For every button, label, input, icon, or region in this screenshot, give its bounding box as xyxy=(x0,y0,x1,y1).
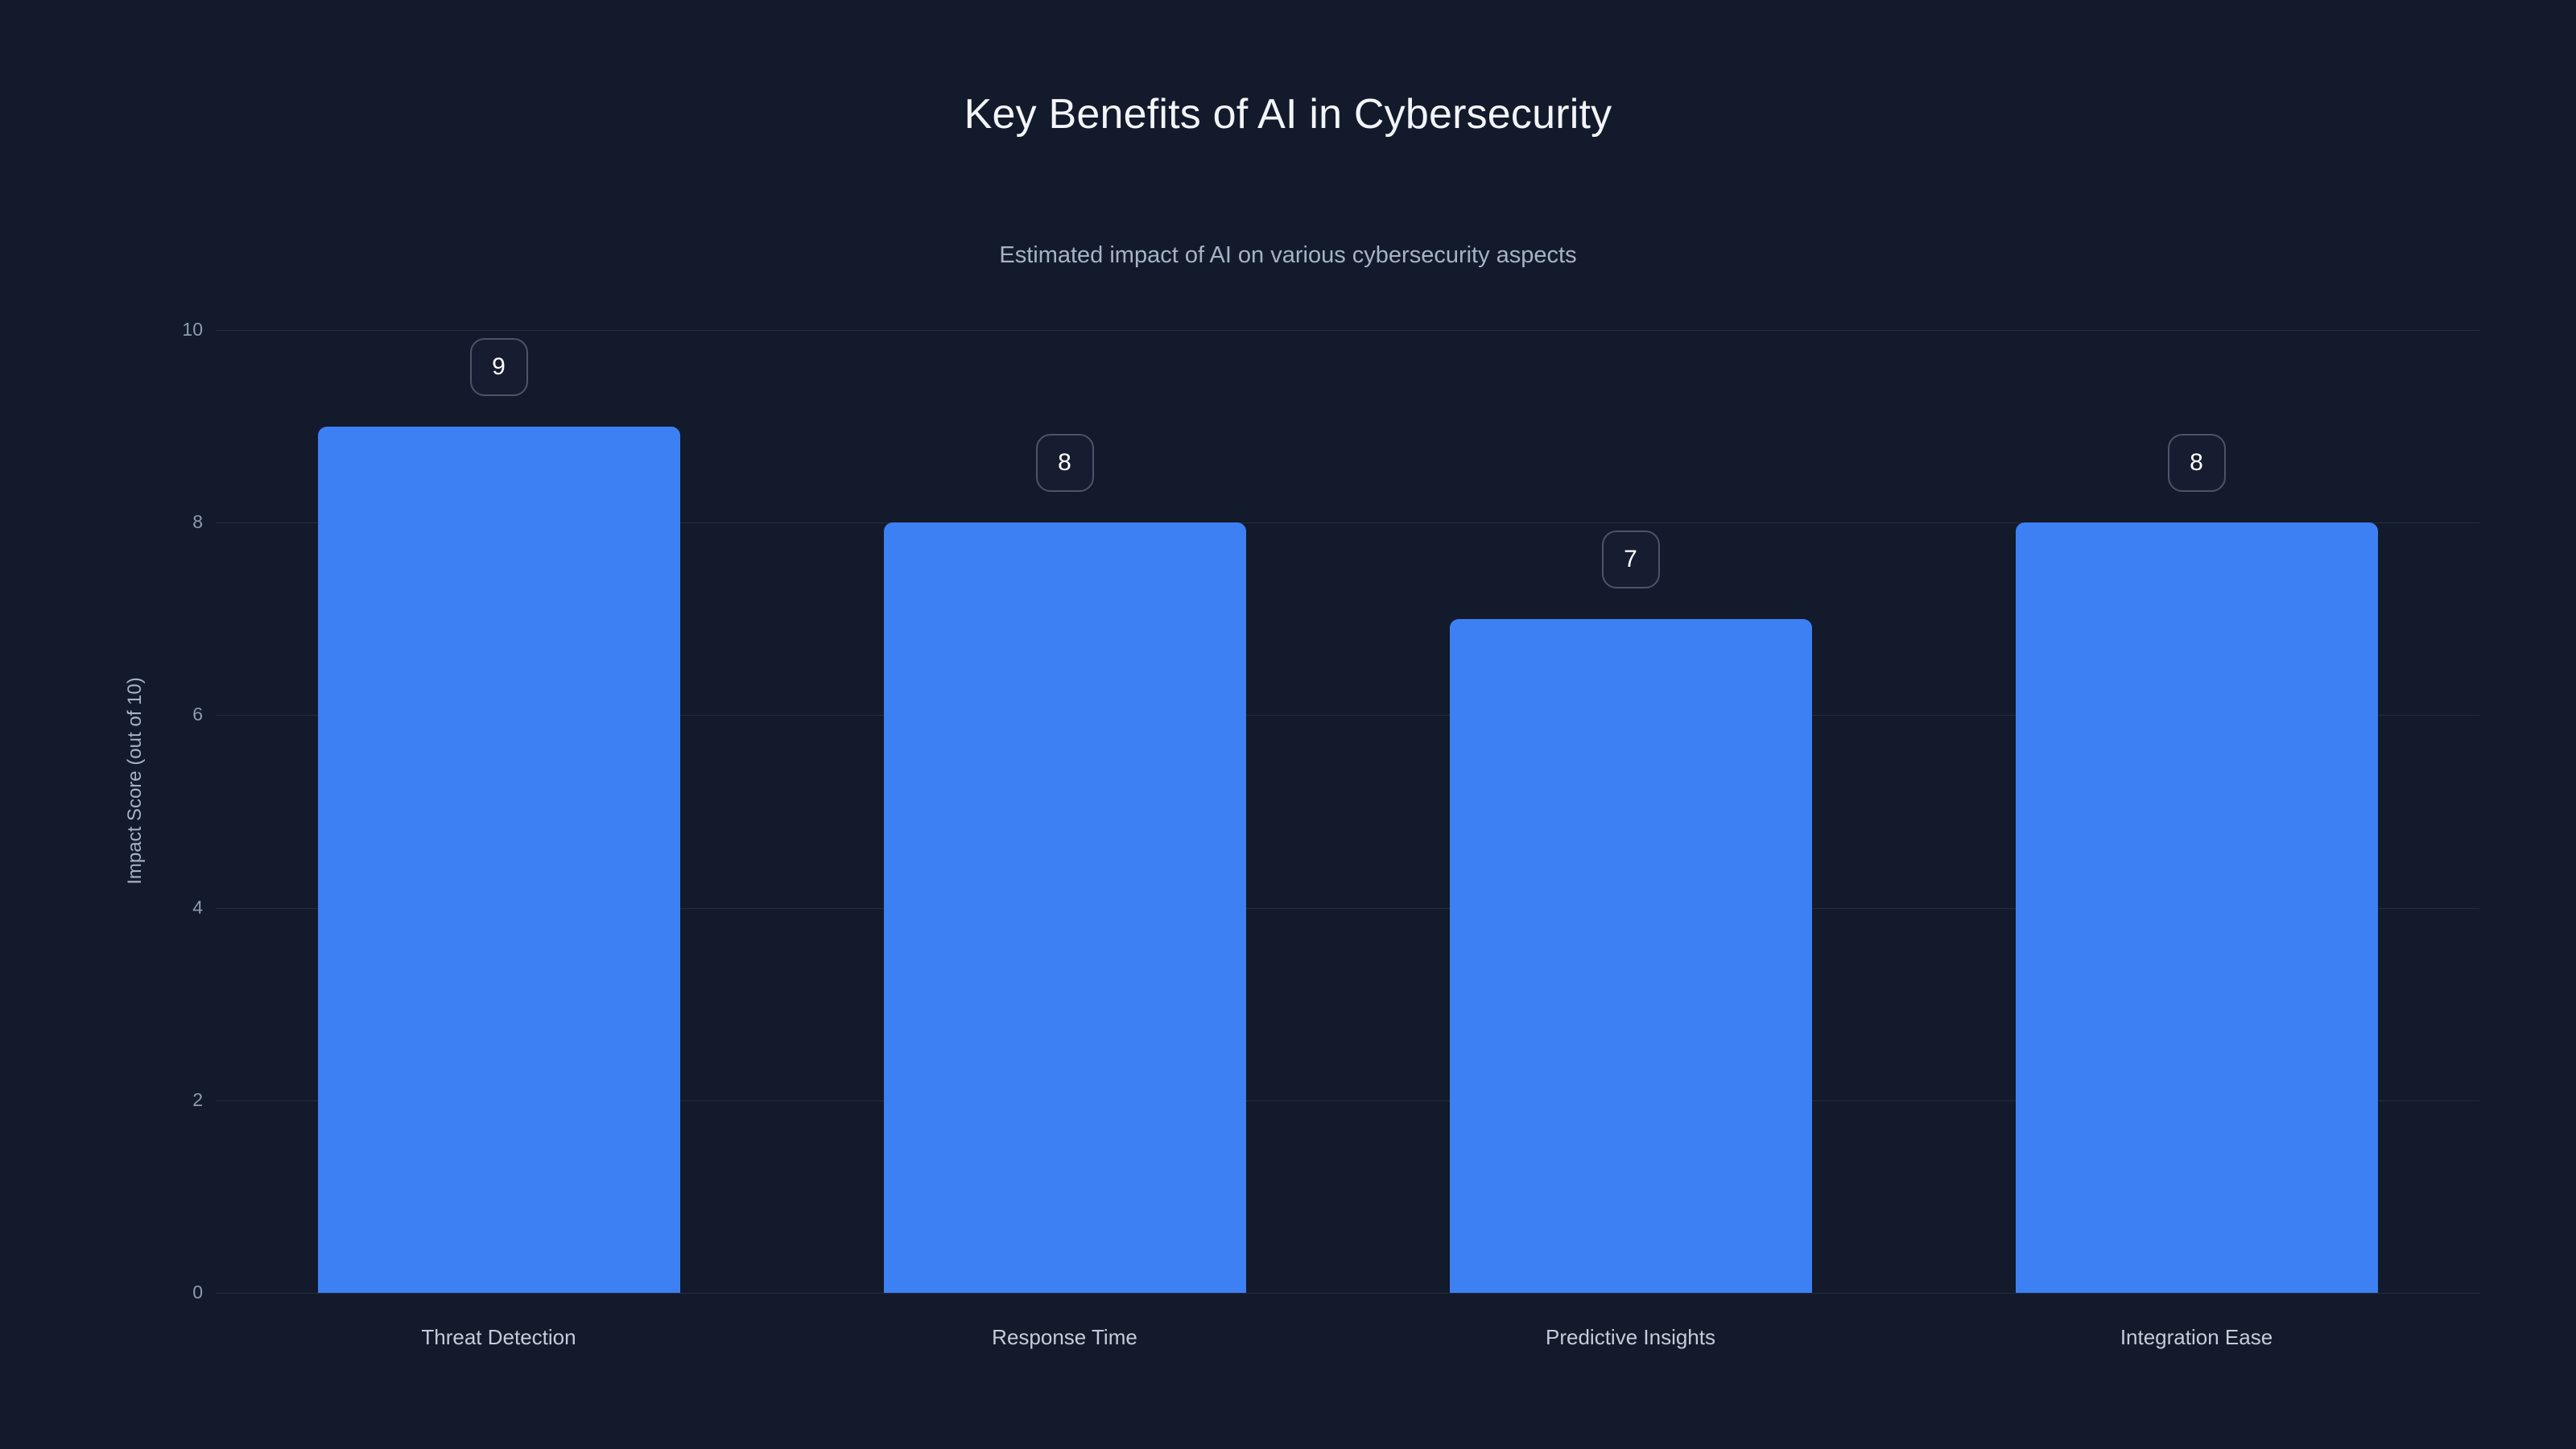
x-axis-tick-label: Threat Detection xyxy=(258,1325,741,1349)
gridline xyxy=(216,1293,2479,1294)
plot-area xyxy=(216,330,2479,1293)
x-axis-tick-label: Integration Ease xyxy=(1955,1325,2438,1349)
gridline xyxy=(216,330,2479,331)
chart-title: Key Benefits of AI in Cybersecurity xyxy=(0,90,2576,138)
chart-subtitle: Estimated impact of AI on various cybers… xyxy=(0,242,2576,269)
bar[interactable] xyxy=(1450,619,1812,1293)
y-axis-tick-label: 0 xyxy=(106,1283,203,1302)
bar-value-label: 8 xyxy=(1036,434,1094,492)
bar[interactable] xyxy=(318,427,680,1293)
bar[interactable] xyxy=(2016,522,2378,1293)
bar-value-label: 7 xyxy=(1602,530,1660,588)
y-axis-tick-label: 6 xyxy=(106,705,203,724)
x-axis-tick-label: Predictive Insights xyxy=(1389,1325,1872,1349)
bar-value-label: 9 xyxy=(470,338,528,396)
bar-value-label: 8 xyxy=(2168,434,2226,492)
y-axis-tick-label: 4 xyxy=(106,898,203,917)
bar-chart: Key Benefits of AI in Cybersecurity Esti… xyxy=(0,0,2576,1449)
y-axis-tick-label: 2 xyxy=(106,1091,203,1109)
x-axis-tick-label: Response Time xyxy=(824,1325,1307,1349)
y-axis-tick-label: 8 xyxy=(106,513,203,531)
bar[interactable] xyxy=(884,522,1246,1293)
y-axis-tick-label: 10 xyxy=(106,320,203,339)
